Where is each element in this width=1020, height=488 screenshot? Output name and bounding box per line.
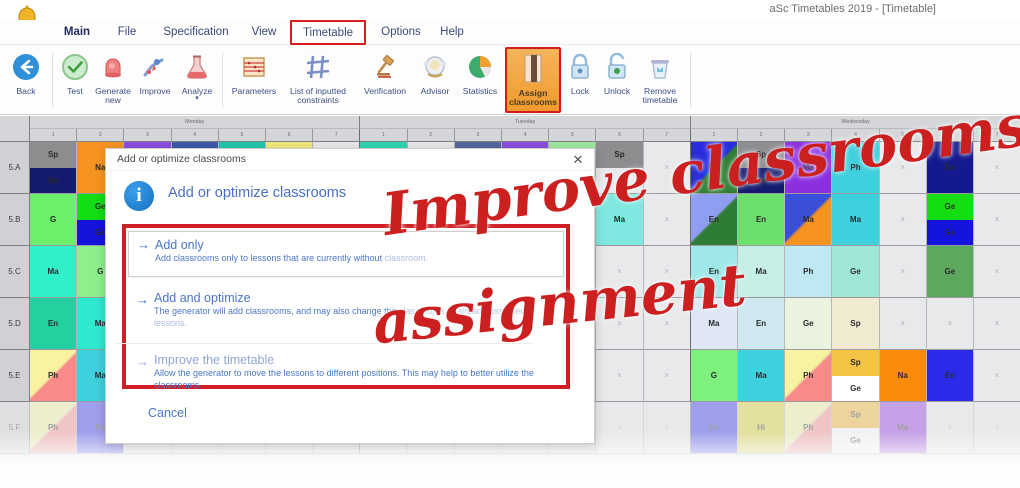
ribbon-separator-2	[222, 53, 223, 107]
lesson-ma[interactable]: Ma	[880, 402, 926, 453]
empty-cell-marker: x	[596, 246, 642, 297]
timetable-cell[interactable]: En	[691, 402, 738, 454]
timetable-cell[interactable]: x	[974, 142, 1020, 194]
ribbon-label-list-of-inputted-constraints: List of inputted constraints	[280, 87, 356, 106]
period-header-tuesday-2: 2	[408, 129, 455, 142]
arrow-icon: →	[137, 237, 150, 252]
lesson-na[interactable]: Na	[880, 350, 926, 401]
timetable-cell[interactable]: x	[644, 402, 691, 454]
empty-cell-marker: x	[644, 298, 690, 349]
ribbon-button-list-of-inputted-constraints[interactable]: List of inputted constraints	[280, 47, 356, 106]
option-add-and-optimize-desc-main: The generator will add classrooms, and m…	[154, 306, 399, 316]
period-header-wednesday-4: 4	[832, 129, 879, 142]
period-header-monday-2: 2	[77, 129, 124, 142]
timetable-cell[interactable]: x	[927, 298, 974, 350]
lesson-sp[interactable]: Sp	[832, 350, 878, 376]
empty-cell-marker: x	[644, 350, 690, 401]
timetable-cell[interactable]: x	[644, 350, 691, 402]
ribbon-label-verification: Verification	[356, 87, 414, 96]
ribbon-separator-3	[690, 53, 691, 107]
lesson-g[interactable]: G	[691, 350, 737, 401]
flask-icon	[176, 47, 218, 87]
option-add-only-desc: Add classrooms only to lessons that are …	[155, 253, 563, 265]
analyze-dropdown-caret[interactable]: ▾	[176, 96, 218, 102]
timetable-cell[interactable]: x	[596, 402, 643, 454]
period-header-row: 123456712345671234567	[0, 129, 1020, 142]
lesson-sp[interactable]: Sp	[30, 168, 76, 194]
lesson-en[interactable]: En	[691, 246, 737, 297]
ribbon-label-back: Back	[6, 87, 46, 96]
ribbon-label-improve: Improve	[134, 87, 176, 96]
period-header-wednesday-2: 2	[738, 129, 785, 142]
escalator-icon	[134, 47, 176, 87]
timetable-cell[interactable]: GeGe	[927, 194, 974, 246]
ribbon-button-lock[interactable]: Lock	[563, 47, 597, 96]
period-header-tuesday-1: 1	[360, 129, 407, 142]
cancel-label: Cancel	[148, 405, 422, 421]
empty-cell-marker: x	[880, 246, 926, 297]
empty-cell-marker: x	[974, 194, 1020, 245]
application-window: aSc Timetables 2019 - [Timetable] Main F…	[0, 0, 1020, 488]
lesson-en[interactable]: En	[738, 194, 784, 245]
menu-bar: Main File Specification View Timetable O…	[0, 20, 1020, 45]
lesson-ge[interactable]: Ge	[927, 246, 973, 297]
advisor-icon	[414, 47, 456, 87]
timetable-cell[interactable]: x	[880, 246, 927, 298]
option-add-only[interactable]: → Add only Add classrooms only to lesson…	[128, 231, 564, 277]
empty-cell-marker: x	[974, 350, 1020, 401]
lesson-ma[interactable]: Ma	[738, 246, 784, 297]
row-label-5-c: 5.C	[0, 246, 30, 298]
arrow-icon: →	[136, 354, 149, 369]
timetable-cell[interactable]: Ma	[30, 246, 77, 298]
gavel-icon	[356, 47, 414, 87]
lesson-ge[interactable]: Ge	[785, 298, 831, 349]
lesson-ma[interactable]: Ma	[785, 194, 831, 245]
timetable-cell[interactable]: Ma	[738, 350, 785, 402]
timetable-cell[interactable]: Ma	[691, 142, 738, 194]
timetable-cell[interactable]: En	[927, 142, 974, 194]
close-icon[interactable]: ✕	[568, 151, 588, 169]
lesson-ma[interactable]: Ma	[691, 142, 737, 193]
lesson-ph[interactable]: Ph	[832, 142, 878, 193]
ribbon-label-test: Test	[58, 87, 92, 96]
row-label-5-d: 5.D	[0, 298, 30, 350]
timetable-cell[interactable]: Ph	[785, 246, 832, 298]
timetable-cell[interactable]: Ma	[880, 402, 927, 454]
option-improve-the-timetable-title: Improve the timetable	[154, 352, 564, 368]
period-header-wednesday-3: 3	[785, 129, 832, 142]
ribbon-button-unlock[interactable]: Unlock	[597, 47, 637, 96]
timetable-cell[interactable]: Sp	[596, 142, 643, 194]
timetable-cell[interactable]: x	[644, 246, 691, 298]
lesson-hi[interactable]: Hi	[738, 402, 784, 453]
info-icon: i	[124, 181, 154, 211]
ribbon-button-analyze[interactable]: Analyze ▾	[176, 47, 218, 102]
timetable-cell[interactable]: Ma	[691, 298, 738, 350]
timetable-cell[interactable]: En	[738, 298, 785, 350]
ribbon-label-statistics: Statistics	[456, 87, 504, 96]
period-header-tuesday-3: 3	[455, 129, 502, 142]
grid-hash-icon	[280, 47, 356, 87]
ribbon-button-remove-timetable[interactable]: Remove timetable	[637, 47, 683, 106]
back-arrow-icon	[6, 47, 46, 87]
lesson-en[interactable]: En	[927, 142, 973, 193]
empty-cell-marker: x	[927, 402, 973, 453]
lesson-en[interactable]: En	[30, 298, 76, 349]
empty-cell-marker: x	[974, 142, 1020, 193]
ribbon-button-back[interactable]: Back	[6, 47, 46, 96]
timetable-cell[interactable]: Na	[880, 350, 927, 402]
option-add-only-title: Add only	[155, 237, 563, 253]
ribbon-button-statistics[interactable]: Statistics	[456, 47, 504, 96]
door-icon	[507, 49, 559, 89]
menu-item-options[interactable]: Options	[374, 23, 428, 42]
lesson-ge[interactable]: Ge	[832, 428, 878, 454]
period-header-wednesday-5: 5	[880, 129, 927, 142]
timetable-cell[interactable]: Ma	[785, 142, 832, 194]
period-header-monday-4: 4	[172, 129, 219, 142]
abacus-icon	[228, 47, 280, 87]
timetable-cell[interactable]: En	[691, 194, 738, 246]
empty-cell-marker: x	[880, 194, 926, 245]
timetable-cell[interactable]: Ph	[30, 350, 77, 402]
timetable-cell[interactable]: SpGe	[832, 350, 879, 402]
empty-cell-marker: x	[880, 298, 926, 349]
empty-cell-marker: x	[596, 298, 642, 349]
ribbon-button-improve[interactable]: Improve	[134, 47, 176, 96]
period-header-monday-1: 1	[30, 129, 77, 142]
timetable-cell[interactable]: SpSp	[738, 142, 785, 194]
lock-closed-icon	[563, 47, 597, 87]
dialog-title-text: Add or optimize classrooms	[117, 153, 246, 165]
lesson-en[interactable]: En	[691, 194, 737, 245]
option-improve-the-timetable-desc: Allow the generator to move the lessons …	[154, 368, 564, 391]
menu-item-main[interactable]: Main	[56, 23, 98, 42]
option-add-and-optimize[interactable]: → Add and optimize The generator will ad…	[128, 287, 564, 337]
lesson-ge[interactable]: Ge	[927, 220, 973, 246]
lesson-en[interactable]: En	[691, 402, 737, 453]
timetable-cell[interactable]: x	[974, 194, 1020, 246]
lesson-sp[interactable]: Sp	[832, 402, 878, 428]
dialog-header-text: Add or optimize classrooms	[168, 185, 346, 201]
timetable-cell[interactable]: x	[596, 350, 643, 402]
timetable-cell[interactable]: Ge	[832, 246, 879, 298]
timetable-cell[interactable]: x	[644, 194, 691, 246]
option-improve-the-timetable[interactable]: → Improve the timetable Allow the genera…	[128, 349, 564, 401]
ribbon-label-assign-classrooms: Assign classrooms	[507, 89, 559, 108]
menu-item-timetable[interactable]: Timetable	[290, 20, 366, 45]
timetable-cell[interactable]: Ge	[927, 246, 974, 298]
lesson-ph[interactable]: Ph	[785, 350, 831, 401]
lesson-ph[interactable]: Ph	[785, 402, 831, 453]
row-label-5-f: 5.F	[0, 402, 30, 454]
row-label-5-a: 5.A	[0, 142, 30, 194]
option-add-and-optimize-title: Add and optimize	[154, 290, 564, 306]
period-header-monday-6: 6	[266, 129, 313, 142]
timetable-cell[interactable]: Ph	[30, 402, 77, 454]
empty-cell-marker: x	[644, 246, 690, 297]
timetable-cell[interactable]: En	[738, 194, 785, 246]
lesson-ma[interactable]: Ma	[785, 142, 831, 193]
period-header-tuesday-5: 5	[549, 129, 596, 142]
timetable-cell[interactable]: x	[644, 142, 691, 194]
lesson-ma[interactable]: Ma	[738, 350, 784, 401]
ribbon-label-unlock: Unlock	[597, 87, 637, 96]
timetable-cell[interactable]: x	[880, 298, 927, 350]
timetable-cell[interactable]: Ph	[785, 350, 832, 402]
empty-cell-marker: x	[974, 402, 1020, 453]
lock-open-icon	[597, 47, 637, 87]
period-header-wednesday-6: 6	[927, 129, 974, 142]
ribbon-label-remove-timetable: Remove timetable	[637, 87, 683, 106]
period-header-monday-5: 5	[219, 129, 266, 142]
lesson-sp[interactable]: Sp	[738, 168, 784, 194]
empty-cell-marker: x	[974, 246, 1020, 297]
arrow-icon: →	[136, 292, 149, 307]
ribbon-toolbar: Back Test Generate new	[0, 45, 1020, 115]
ribbon-button-test[interactable]: Test	[58, 47, 92, 96]
lesson-sp[interactable]: Sp	[596, 142, 642, 168]
day-header-row: MondayTuesdayWednesday	[0, 116, 1020, 129]
lesson-ph[interactable]: Ph	[785, 246, 831, 297]
timetable-cell[interactable]: x	[927, 402, 974, 454]
window-title: aSc Timetables 2019 - [Timetable]	[769, 3, 936, 15]
period-header-monday-3: 3	[124, 129, 171, 142]
timetable-cell[interactable]: x	[974, 298, 1020, 350]
timetable-cell[interactable]: SpSp	[30, 142, 77, 194]
row-label-5-b: 5.B	[0, 194, 30, 246]
empty-cell-marker: x	[644, 194, 690, 245]
lesson-ge[interactable]: Ge	[832, 246, 878, 297]
menu-item-help[interactable]: Help	[434, 23, 470, 42]
dialog-title-bar: Add or optimize classrooms ✕	[106, 149, 594, 171]
ribbon-button-parameters[interactable]: Parameters	[228, 47, 280, 96]
lesson-g[interactable]: G	[30, 194, 76, 245]
period-header-tuesday-7: 7	[644, 129, 691, 142]
timetable-cell[interactable]: En	[691, 246, 738, 298]
ribbon-separator-1	[52, 53, 53, 107]
day-header-wednesday: Wednesday	[691, 116, 1020, 129]
menu-item-file[interactable]: File	[110, 23, 144, 42]
timetable-cell[interactable]: x	[974, 402, 1020, 454]
empty-cell-marker: x	[596, 350, 642, 401]
option-add-and-optimize-desc: The generator will add classrooms, and m…	[154, 306, 564, 329]
period-header-monday-7: 7	[313, 129, 360, 142]
menu-item-specification[interactable]: Specification	[152, 23, 240, 42]
lesson-ma[interactable]: Ma	[596, 194, 642, 245]
ribbon-button-advisor[interactable]: Advisor	[414, 47, 456, 96]
timetable-cell[interactable]: Ph	[832, 142, 879, 194]
lesson-ma[interactable]: Ma	[832, 194, 878, 245]
period-header-tuesday-4: 4	[502, 129, 549, 142]
option-add-only-desc-main: Add classrooms only to lessons that are …	[155, 253, 385, 263]
row-label-5-e: 5.E	[0, 350, 30, 402]
lesson-sp[interactable]: Sp	[738, 142, 784, 168]
empty-cell-marker: x	[644, 402, 690, 453]
lesson-sp[interactable]: Sp	[30, 142, 76, 168]
timetable-cell[interactable]: G	[691, 350, 738, 402]
day-header-monday: Monday	[30, 116, 360, 129]
lesson-ph[interactable]: Ph	[30, 350, 76, 401]
cancel-option[interactable]: → Cancel	[122, 405, 422, 421]
timetable-cell[interactable]: Ph	[785, 402, 832, 454]
period-header-wednesday-1: 1	[691, 129, 738, 142]
option-add-only-desc-dim: classroom.	[385, 253, 429, 263]
timetable-cell[interactable]: Hi	[738, 402, 785, 454]
timetable-cell[interactable]: G	[30, 194, 77, 246]
lesson-ma[interactable]: Ma	[691, 298, 737, 349]
period-header-wednesday-7: 7	[974, 129, 1020, 142]
menu-item-view[interactable]: View	[244, 23, 284, 42]
timetable-cell[interactable]: Ma	[738, 246, 785, 298]
empty-cell-marker: x	[880, 142, 926, 193]
lesson-en[interactable]: En	[738, 298, 784, 349]
siren-icon	[92, 47, 134, 87]
timetable-cell[interactable]: Ma	[785, 194, 832, 246]
ribbon-button-assign-classrooms[interactable]: Assign classrooms	[505, 47, 561, 113]
option-divider	[114, 343, 534, 344]
timetable-cell[interactable]: x	[974, 350, 1020, 402]
ribbon-label-parameters: Parameters	[228, 87, 280, 96]
dialog-header: i Add or optimize classrooms	[124, 179, 564, 215]
empty-cell-marker: x	[596, 402, 642, 453]
timetable-cell[interactable]: Ma	[596, 194, 643, 246]
timetable-cell[interactable]: x	[644, 298, 691, 350]
lesson-sp[interactable]: Sp	[832, 298, 878, 349]
lesson-en[interactable]: En	[927, 350, 973, 401]
ribbon-button-verification[interactable]: Verification	[356, 47, 414, 96]
pie-chart-icon	[456, 47, 504, 87]
ribbon-label-lock: Lock	[563, 87, 597, 96]
period-header-tuesday-6: 6	[596, 129, 643, 142]
timetable-cell[interactable]: x	[880, 142, 927, 194]
timetable-cell[interactable]: x	[880, 194, 927, 246]
ribbon-button-generate-new[interactable]: Generate new	[92, 47, 134, 106]
lesson-ge[interactable]: Ge	[832, 376, 878, 402]
timetable-cell[interactable]: SpGe	[832, 402, 879, 454]
empty-cell-marker: x	[644, 142, 690, 193]
timetable-cell[interactable]: En	[927, 350, 974, 402]
timetable-cell[interactable]: Sp	[832, 298, 879, 350]
timetable-cell[interactable]: Ma	[832, 194, 879, 246]
lesson-ge[interactable]: Ge	[927, 194, 973, 220]
title-bar: aSc Timetables 2019 - [Timetable]	[0, 0, 1020, 20]
trash-icon	[637, 47, 683, 87]
add-optimize-classrooms-dialog: Add or optimize classrooms ✕ i Add or op…	[105, 148, 595, 444]
lesson-ma[interactable]: Ma	[30, 246, 76, 297]
lesson-ph[interactable]: Ph	[30, 402, 76, 453]
timetable-cell[interactable]: Ge	[785, 298, 832, 350]
day-header-tuesday: Tuesday	[360, 116, 690, 129]
timetable-cell[interactable]: x	[596, 246, 643, 298]
timetable-cell[interactable]: En	[30, 298, 77, 350]
empty-cell-marker: x	[927, 298, 973, 349]
timetable-cell[interactable]: x	[974, 246, 1020, 298]
ribbon-label-advisor: Advisor	[414, 87, 456, 96]
ribbon-label-generate-new: Generate new	[92, 87, 134, 106]
timetable-cell[interactable]: x	[596, 298, 643, 350]
empty-cell-marker: x	[974, 298, 1020, 349]
check-circle-icon	[58, 47, 92, 87]
